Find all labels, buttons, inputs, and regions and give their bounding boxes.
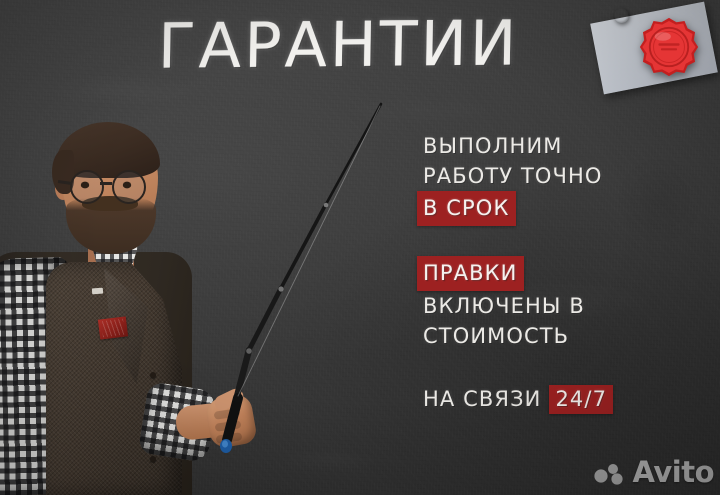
wax-seal-icon: [638, 16, 700, 78]
vignette-overlay: [0, 0, 720, 495]
guarantees-poster: ГАРАНТИИ ВЫПОЛНИМ РАБОТУ ТОЧНО В СРОК ПР…: [0, 0, 720, 495]
pushpin-icon: [614, 8, 629, 23]
